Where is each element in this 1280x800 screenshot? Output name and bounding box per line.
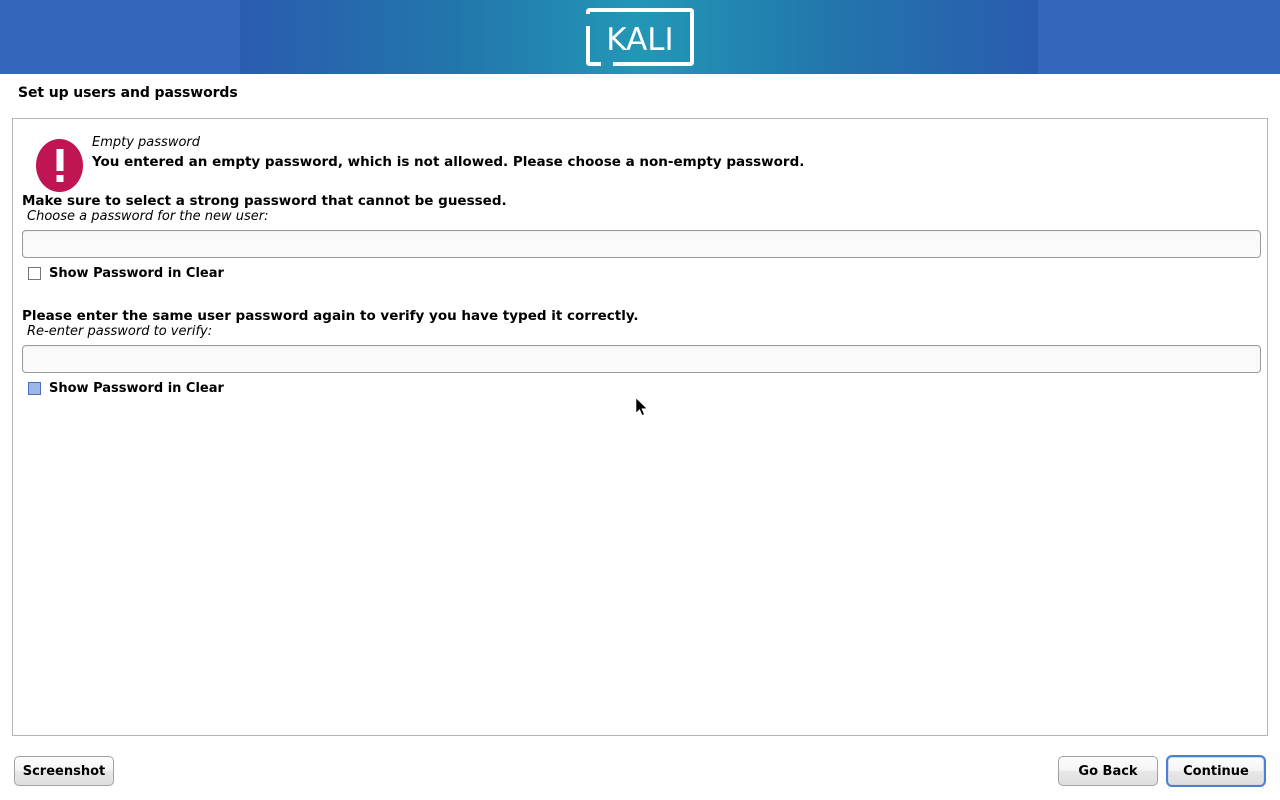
kali-banner: KALI <box>0 0 1280 74</box>
go-back-button[interactable]: Go Back <box>1058 756 1158 786</box>
verify-label: Re-enter password to verify: <box>22 324 1261 339</box>
kali-logo-text: KALI <box>606 22 673 58</box>
verify-section: Please enter the same user password agai… <box>22 308 1261 396</box>
show-password-label-1: Show Password in Clear <box>49 266 224 281</box>
show-password-row-2[interactable]: Show Password in Clear <box>22 381 1261 396</box>
password-label: Choose a password for the new user: <box>22 209 1261 224</box>
show-password-row-1[interactable]: Show Password in Clear <box>22 266 1261 281</box>
alert-banner: Empty password You entered an empty pass… <box>22 127 1252 193</box>
alert-message: You entered an empty password, which is … <box>92 154 804 170</box>
content-frame: Empty password You entered an empty pass… <box>12 118 1268 736</box>
verify-password-input[interactable] <box>22 345 1261 373</box>
show-password-label-2: Show Password in Clear <box>49 381 224 396</box>
show-password-checkbox-1[interactable] <box>28 267 41 280</box>
verify-heading: Please enter the same user password agai… <box>22 308 1261 324</box>
continue-button[interactable]: Continue <box>1166 755 1266 787</box>
screenshot-button[interactable]: Screenshot <box>14 756 114 786</box>
error-exclamation-icon <box>36 139 83 192</box>
password-input[interactable] <box>22 230 1261 258</box>
password-section: Make sure to select a strong password th… <box>22 193 1261 281</box>
page-title: Set up users and passwords <box>18 85 238 101</box>
show-password-checkbox-2[interactable] <box>28 382 41 395</box>
alert-title: Empty password <box>92 135 200 150</box>
password-heading: Make sure to select a strong password th… <box>22 193 1261 209</box>
installer-window: KALI Set up users and passwords Empty pa… <box>0 0 1280 800</box>
kali-logo-icon: KALI <box>583 8 697 66</box>
